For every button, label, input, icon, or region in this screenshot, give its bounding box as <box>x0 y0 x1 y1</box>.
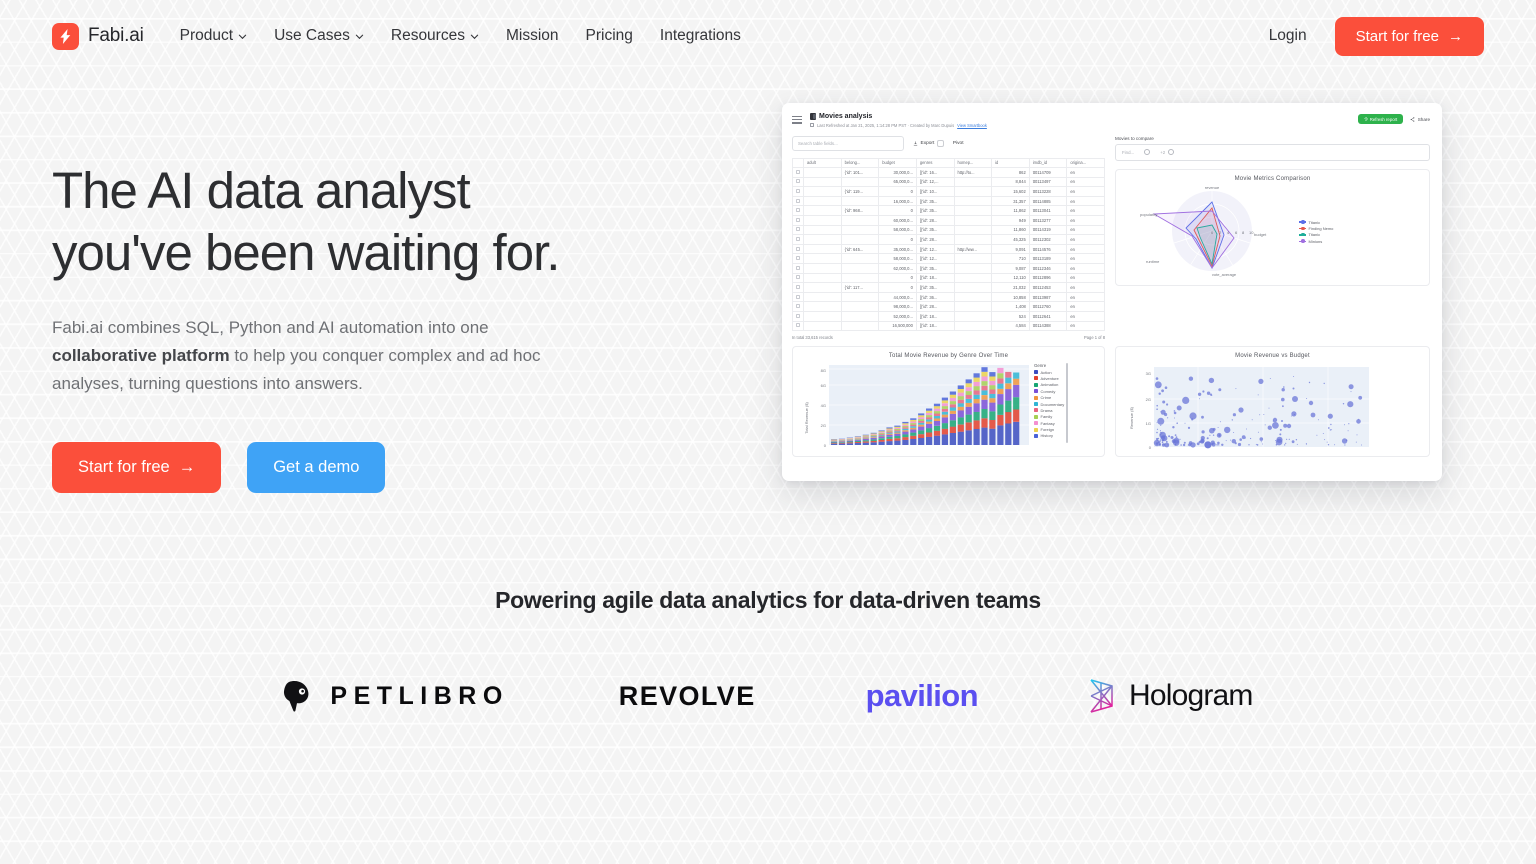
column-header[interactable]: belong... <box>841 158 879 168</box>
scatter-point <box>1263 414 1264 415</box>
bar-segment <box>981 400 987 409</box>
nav-item-product[interactable]: Product <box>180 27 247 45</box>
column-header[interactable]: budget <box>879 158 917 168</box>
chevron-down-icon <box>238 32 247 41</box>
table-cell: [{'id': 36... <box>916 292 954 302</box>
legend-item[interactable]: Foreign <box>1034 427 1064 432</box>
scatter-point <box>1270 378 1271 379</box>
column-header[interactable]: imdb_id <box>1029 158 1067 168</box>
table-cell: [{'id': 28... <box>916 216 954 226</box>
row-checkbox-cell[interactable] <box>793 302 804 312</box>
bar-segment <box>966 399 972 403</box>
checkbox-icon[interactable] <box>796 218 800 222</box>
scatter-point <box>1306 443 1307 444</box>
scatter-point <box>1342 438 1347 443</box>
row-checkbox-cell[interactable] <box>793 196 804 206</box>
scatter-point <box>1218 388 1221 391</box>
compare-find-input[interactable]: Find... +2 <box>1115 144 1430 161</box>
subtitle-bold: collaborative platform <box>52 346 230 365</box>
checkbox-icon[interactable] <box>796 237 800 241</box>
legend-item[interactable]: Animation <box>1034 382 1064 387</box>
table-cell: 524 <box>992 312 1030 322</box>
scatter-point <box>1167 445 1168 446</box>
scatter-chart-card: Movie Revenue vs Budget Revenue ($) 01G2… <box>1115 346 1430 457</box>
bar-segment <box>894 427 900 428</box>
remove-chip-icon[interactable] <box>1144 149 1150 155</box>
scatter-point <box>1156 377 1159 380</box>
checkbox-icon[interactable] <box>796 256 800 260</box>
scatter-point <box>1174 411 1175 412</box>
logos-title: Powering agile data analytics for data-d… <box>0 587 1536 614</box>
svg-text:2G: 2G <box>821 423 826 428</box>
bar-segment <box>981 428 987 445</box>
scatter-point <box>1269 408 1270 409</box>
scatter-point <box>1232 439 1236 443</box>
row-checkbox-cell[interactable] <box>793 283 804 293</box>
bar-segment <box>950 408 956 411</box>
table-footer: In total 33,615 records Page 1 of 8 <box>792 335 1105 340</box>
scatter-point <box>1348 423 1349 424</box>
table-cell: {'id': 968... <box>841 206 879 216</box>
bar-segment <box>863 438 869 439</box>
radar-chart-plot: revenue budget vote_average runtime popu… <box>1124 184 1299 279</box>
scatter-point <box>1218 427 1219 428</box>
row-checkbox-cell[interactable] <box>793 321 804 331</box>
nav-item-use-cases[interactable]: Use Cases <box>274 27 364 45</box>
table-cell: 98,000,0... <box>879 302 917 312</box>
checkbox-icon[interactable] <box>796 304 800 308</box>
table-row[interactable]: 60,000,0...[{'id': 28...949tt0113277en <box>793 216 1105 226</box>
scatter-point <box>1232 419 1233 420</box>
legend-item[interactable]: Titanic <box>1299 220 1333 225</box>
nav-item-resources[interactable]: Resources <box>391 27 479 45</box>
row-checkbox-cell[interactable] <box>793 292 804 302</box>
bar-segment <box>1005 378 1011 384</box>
bar-segment <box>902 425 908 426</box>
legend-swatch <box>1034 428 1038 432</box>
scatter-point <box>1217 442 1220 445</box>
scatter-point <box>1262 444 1263 445</box>
bar-segment <box>981 395 987 400</box>
bar-segment <box>926 437 932 445</box>
bar-segment <box>981 372 987 377</box>
row-checkbox-cell[interactable] <box>793 177 804 187</box>
checkbox-icon[interactable] <box>796 247 800 251</box>
legend-item[interactable]: Comedy <box>1034 389 1064 394</box>
legend-item[interactable]: Adventure <box>1034 376 1064 381</box>
scatter-point <box>1156 432 1158 434</box>
table-row[interactable]: 16,500,000[{'id': 18...4,584tt0114388en <box>793 321 1105 331</box>
bar-segment <box>942 406 948 409</box>
bar-segment <box>831 443 837 444</box>
row-checkbox-cell[interactable] <box>793 168 804 178</box>
bar-segment <box>926 413 932 415</box>
scatter-point <box>1297 444 1298 445</box>
bar-segment <box>934 411 940 414</box>
legend-swatch <box>1034 376 1038 380</box>
chevron-down-icon[interactable] <box>937 140 944 147</box>
scatter-point <box>1174 412 1177 415</box>
legend-item[interactable]: Drama <box>1034 408 1064 413</box>
table-row[interactable]: 58,000,0...[{'id': 35...11,860tt0114319e… <box>793 225 1105 235</box>
bar-segment <box>950 404 956 407</box>
bar-segment <box>886 431 892 432</box>
row-checkbox-cell[interactable] <box>793 235 804 245</box>
table-toolbar: Search table fields... Export Pivot <box>792 136 1105 151</box>
bar-segment <box>934 431 940 436</box>
bar-segment <box>958 389 964 393</box>
checkbox-icon[interactable] <box>796 314 800 318</box>
legend-label: Titanic <box>1309 232 1321 237</box>
nav-item-pricing[interactable]: Pricing <box>586 27 633 45</box>
bar-segment <box>950 427 956 433</box>
table-cell <box>804 216 842 226</box>
scatter-point <box>1230 440 1231 441</box>
legend-item[interactable]: Titanic <box>1299 232 1333 237</box>
bar-segment <box>989 398 995 402</box>
legend-swatch <box>1034 415 1038 419</box>
row-checkbox-cell[interactable] <box>793 244 804 254</box>
table-row[interactable]: 62,000,0...[{'id': 35...9,087tt0112346en <box>793 264 1105 274</box>
scatter-point <box>1281 420 1283 422</box>
legend-scrollbar[interactable] <box>1066 363 1068 443</box>
stacked-bar-title: Total Movie Revenue by Genre Over Time <box>800 353 1097 359</box>
bar-segment <box>863 437 869 438</box>
table-cell: 62,000,0... <box>879 264 917 274</box>
table-row[interactable]: {'id': 117...0[{'id': 35...21,032tt01124… <box>793 283 1105 293</box>
scatter-point <box>1292 440 1295 443</box>
bar-segment <box>974 395 980 399</box>
app-body: Search table fields... Export Pivot <box>782 128 1442 341</box>
table-cell: 0 <box>879 187 917 197</box>
bar-segment <box>1005 412 1011 424</box>
bar-segment <box>871 436 877 437</box>
y-axis-label: Revenue ($) <box>1129 407 1134 430</box>
table-cell: tt0113189 <box>1029 254 1067 264</box>
bar-segment <box>863 439 869 440</box>
table-cell <box>804 302 842 312</box>
legend-label: Fantasy <box>1041 421 1055 426</box>
bar-segment <box>879 434 885 435</box>
scatter-point <box>1233 432 1234 433</box>
social-proof-section: Powering agile data analytics for data-d… <box>0 587 1536 716</box>
table-cell: 44,000,0... <box>879 292 917 302</box>
table-cell <box>954 216 992 226</box>
table-row[interactable]: {'id': 645...35,000,0...[{'id': 12...htt… <box>793 244 1105 254</box>
view-smartbook-link[interactable]: View Smartbook <box>957 123 987 128</box>
scatter-point <box>1238 408 1243 413</box>
scatter-point <box>1282 405 1284 407</box>
column-header[interactable]: adult <box>804 158 842 168</box>
bar-segment <box>855 442 861 443</box>
pivot-button[interactable]: Pivot <box>953 141 964 146</box>
scatter-point <box>1280 429 1282 431</box>
checkbox-icon[interactable] <box>796 227 800 231</box>
scatter-point <box>1282 388 1285 391</box>
scatter-point <box>1268 426 1272 430</box>
table-cell: http://ww... <box>954 244 992 254</box>
table-cell <box>954 254 992 264</box>
svg-text:10: 10 <box>1249 230 1254 235</box>
table-row[interactable]: 44,000,0...[{'id': 36...10,858tt0113987e… <box>793 292 1105 302</box>
bar-segment <box>934 436 940 445</box>
bar-segment <box>839 443 845 444</box>
bar-segment <box>926 433 932 437</box>
scatter-point <box>1157 429 1158 430</box>
bar-segment <box>855 438 861 439</box>
checkbox-icon[interactable] <box>796 285 800 289</box>
scatter-point <box>1211 395 1212 396</box>
bar-segment <box>958 432 964 445</box>
row-checkbox-cell[interactable] <box>793 254 804 264</box>
bar-segment <box>902 434 908 437</box>
extra-chip-count: +2 <box>1160 150 1165 155</box>
login-link[interactable]: Login <box>1269 27 1307 45</box>
scatter-point <box>1296 439 1297 440</box>
bar-segment <box>918 419 924 421</box>
bar-segment <box>871 435 877 436</box>
row-checkbox-cell[interactable] <box>793 225 804 235</box>
remove-chip-icon[interactable] <box>1168 149 1174 155</box>
scatter-point <box>1217 444 1218 445</box>
bar-segment <box>974 378 980 382</box>
bar-segment <box>934 409 940 412</box>
refresh-icon <box>1364 117 1368 121</box>
table-cell <box>841 235 879 245</box>
select-all-cell[interactable] <box>793 158 804 168</box>
table-cell: [{'id': 35... <box>916 225 954 235</box>
bar-segment <box>966 395 972 399</box>
bar-segment <box>942 398 948 401</box>
checkbox-icon[interactable] <box>796 275 800 279</box>
checkbox-icon[interactable] <box>796 266 800 270</box>
checkbox-icon[interactable] <box>796 208 800 212</box>
bar-segment <box>1013 373 1019 379</box>
table-cell <box>804 321 842 331</box>
table-row[interactable]: 16,000,0...[{'id': 35...31,357tt0114885e… <box>793 196 1105 206</box>
bar-segment <box>989 411 995 420</box>
scatter-point <box>1157 418 1164 425</box>
svg-text:8G: 8G <box>821 368 826 373</box>
bar-segment <box>879 431 885 432</box>
button-label: Get a demo <box>273 458 359 477</box>
legend-item[interactable]: Crime <box>1034 395 1064 400</box>
menu-icon[interactable] <box>792 116 802 124</box>
row-checkbox-cell[interactable] <box>793 187 804 197</box>
table-row[interactable]: 52,000,0...[{'id': 18...524tt0112641en <box>793 312 1105 322</box>
bar-segment <box>863 440 869 441</box>
bar-segment <box>974 412 980 421</box>
table-cell: [{'id': 12... <box>916 244 954 254</box>
checkbox-icon[interactable] <box>796 179 800 183</box>
scatter-point <box>1309 401 1313 405</box>
bar-segment <box>879 432 885 433</box>
legend-label: Titanic <box>1309 220 1321 225</box>
table-cell <box>841 264 879 274</box>
table-row[interactable]: 65,000,0...[{'id': 12,...8,844tt0113497e… <box>793 177 1105 187</box>
export-button[interactable]: Export <box>913 140 944 147</box>
table-cell: [{'id': 35... <box>916 283 954 293</box>
legend-item[interactable]: Fantasy <box>1034 421 1064 426</box>
checkbox-icon[interactable] <box>796 295 800 299</box>
legend-label: Animation <box>1041 382 1059 387</box>
header-start-for-free-button[interactable]: Start for free → <box>1335 17 1484 56</box>
table-cell: 0 <box>879 273 917 283</box>
checkbox-icon[interactable] <box>796 189 800 193</box>
checkbox-icon[interactable] <box>796 199 800 203</box>
bar-segment <box>886 439 892 441</box>
checkbox-icon[interactable] <box>796 170 800 174</box>
brand-logo[interactable]: Fabi.ai <box>52 23 144 50</box>
page-indicator[interactable]: Page 1 of 8 <box>1084 335 1105 340</box>
legend-item[interactable]: Family <box>1034 414 1064 419</box>
bar-segment <box>902 432 908 435</box>
app-actions: Refresh report Share <box>1358 114 1430 124</box>
row-checkbox-cell[interactable] <box>793 312 804 322</box>
legend-item[interactable]: History <box>1034 433 1064 438</box>
share-button[interactable]: Share <box>1410 117 1430 122</box>
scatter-point <box>1161 433 1162 434</box>
scatter-point <box>1343 403 1344 404</box>
table-cell: {'id': 117... <box>841 283 879 293</box>
bar-segment <box>855 439 861 440</box>
legend-swatch <box>1034 421 1038 425</box>
table-row[interactable]: {'id': 119...0[{'id': 10...15,602tt01132… <box>793 187 1105 197</box>
bar-segment <box>894 432 900 433</box>
scatter-point <box>1188 443 1191 446</box>
scatter-point <box>1286 439 1287 440</box>
search-input[interactable]: Search table fields... <box>792 136 904 151</box>
table-cell <box>954 177 992 187</box>
logo-pavilion: pavilion <box>866 678 978 714</box>
bar-segment <box>934 426 940 431</box>
scatter-point <box>1250 438 1251 439</box>
table-row[interactable]: 98,000,0...[{'id': 28...1,408tt0112760en <box>793 302 1105 312</box>
table-row[interactable]: {'id': 101...30,000,0...[{'id': 16...htt… <box>793 168 1105 178</box>
scatter-point <box>1156 409 1158 411</box>
bar-segment <box>966 383 972 387</box>
column-header[interactable]: origina... <box>1067 158 1105 168</box>
bar-segment <box>950 401 956 404</box>
hero-start-for-free-button[interactable]: Start for free → <box>52 442 221 493</box>
scatter-point <box>1272 422 1279 429</box>
scatter-point <box>1162 440 1164 442</box>
scatter-point <box>1289 439 1290 440</box>
scatter-point <box>1265 425 1266 426</box>
bar-segment <box>886 433 892 434</box>
bar-segment <box>855 441 861 442</box>
bar-segment <box>942 409 948 412</box>
legend-label: Minions <box>1309 239 1323 244</box>
nav-item-integrations[interactable]: Integrations <box>660 27 741 45</box>
table-cell: en <box>1067 244 1105 254</box>
legend-item[interactable]: Documentary <box>1034 402 1064 407</box>
column-header[interactable]: id <box>992 158 1030 168</box>
table-row[interactable]: 0[{'id': 28...45,325tt0112302en <box>793 235 1105 245</box>
bar-segment <box>1005 384 1011 390</box>
table-row[interactable]: 0[{'id': 18...12,110tt0112896en <box>793 273 1105 283</box>
scatter-point <box>1160 439 1161 440</box>
table-row[interactable]: 58,000,0...[{'id': 12...710tt0113189en <box>793 254 1105 264</box>
scatter-point <box>1213 435 1214 436</box>
bar-segment <box>966 430 972 445</box>
nav-item-mission[interactable]: Mission <box>506 27 559 45</box>
row-checkbox-cell[interactable] <box>793 216 804 226</box>
bar-segment <box>918 417 924 419</box>
legend-label: Finding Nemo <box>1309 226 1334 231</box>
bar-segment <box>886 441 892 445</box>
row-checkbox-cell[interactable] <box>793 264 804 274</box>
scatter-point <box>1328 444 1329 445</box>
bar-segment <box>950 420 956 426</box>
legend-label: Action <box>1041 370 1052 375</box>
hero-product-preview: Movies analysis Last Refreshed at Jan 21… <box>782 100 1484 493</box>
radar-axis-runtime: runtime <box>1146 259 1160 264</box>
table-panel: Search table fields... Export Pivot <box>792 136 1105 341</box>
table-row[interactable]: {'id': 968...0[{'id': 35...11,862tt01130… <box>793 206 1105 216</box>
scatter-point <box>1198 393 1201 396</box>
legend-swatch <box>1034 408 1038 412</box>
bar-segment <box>974 382 980 386</box>
bar-segment <box>910 422 916 424</box>
table-cell: 16,500,000 <box>879 321 917 331</box>
scatter-point <box>1162 401 1165 404</box>
bar-segment <box>974 399 980 403</box>
bar-segment <box>997 405 1003 415</box>
row-checkbox-cell[interactable] <box>793 206 804 216</box>
scatter-point <box>1356 442 1357 443</box>
bar-segment <box>926 428 932 432</box>
table-cell: [{'id': 35... <box>916 196 954 206</box>
row-checkbox-cell[interactable] <box>793 273 804 283</box>
bar-segment <box>1013 410 1019 422</box>
scatter-title: Movie Revenue vs Budget <box>1123 353 1422 359</box>
scatter-point <box>1209 378 1214 383</box>
table-cell <box>804 244 842 254</box>
button-label: Pivot <box>953 141 964 146</box>
column-header[interactable]: homep... <box>954 158 992 168</box>
bar-segment <box>902 426 908 427</box>
refresh-report-button[interactable]: Refresh report <box>1358 114 1403 124</box>
bar-segment <box>1013 379 1019 385</box>
bar-segment <box>974 391 980 395</box>
table-cell: en <box>1067 273 1105 283</box>
bar-segment <box>974 386 980 390</box>
scatter-point <box>1173 437 1174 438</box>
scatter-point <box>1164 439 1165 440</box>
bar-segment <box>958 418 964 425</box>
bar-segment <box>997 415 1003 425</box>
legend-item[interactable]: Action <box>1034 370 1064 375</box>
table-cell: 9,087 <box>992 264 1030 274</box>
table-cell: 11,862 <box>992 206 1030 216</box>
table-cell: 10,858 <box>992 292 1030 302</box>
table-cell: tt0114709 <box>1029 168 1067 178</box>
bar-segment <box>989 372 995 376</box>
legend-item[interactable]: Minions <box>1299 239 1333 244</box>
hero-copy: The AI data analyst you've been waiting … <box>52 100 752 493</box>
column-header[interactable]: genres <box>916 158 954 168</box>
share-icon <box>1410 117 1415 122</box>
checkbox-icon[interactable] <box>796 323 800 327</box>
legend-item[interactable]: Finding Nemo <box>1299 226 1333 231</box>
bar-segment <box>950 414 956 420</box>
table-cell: {'id': 101... <box>841 168 879 178</box>
bar-segment <box>981 377 987 382</box>
bar-segment <box>942 423 948 429</box>
get-a-demo-button[interactable]: Get a demo <box>247 442 385 493</box>
table-cell <box>804 273 842 283</box>
